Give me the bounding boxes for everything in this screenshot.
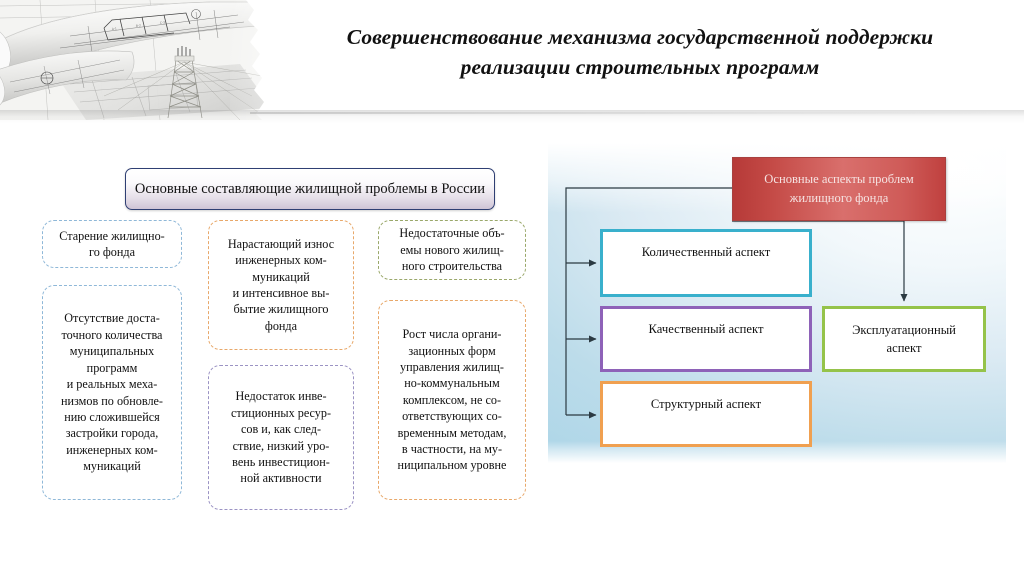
component-line: застройки города,: [61, 425, 163, 441]
component-line: нию сложившейся: [61, 409, 163, 425]
component-line: зационных форм: [398, 343, 507, 359]
component-line: ниципальном уровне: [398, 457, 507, 473]
aspect-box-operational: Эксплуатационный аспект: [822, 306, 986, 372]
component-line: низмов по обновле-: [61, 393, 163, 409]
blueprint-rolls-photo: A-1 B-2 C-3: [0, 0, 300, 120]
left-diagram-title: Основные составляющие жилищной проблемы …: [125, 168, 495, 210]
component-box-aging: Старение жилищно- го фонда: [42, 220, 182, 268]
component-line: ного строительства: [399, 258, 504, 274]
component-box-lack-of-investment: Недостаток инве- стиционных ресур- сов и…: [208, 365, 354, 510]
housing-fund-aspects-diagram: Основные аспекты проблем жилищного фонда…: [548, 143, 1006, 463]
page-title: Совершенствование механизма государствен…: [270, 22, 1010, 82]
component-line: инженерных ком-: [228, 252, 334, 268]
component-line: комплексом, не со-: [398, 392, 507, 408]
component-line: сов и, как след-: [231, 421, 331, 437]
component-line: и интенсивное вы-: [228, 285, 334, 301]
aspect-label: Количественный аспект: [642, 243, 771, 261]
component-line: Нарастающий износ: [228, 236, 334, 252]
component-line: управления жилищ-: [398, 359, 507, 375]
svg-text:C-3: C-3: [160, 20, 166, 25]
component-line: Рост числа органи-: [398, 326, 507, 342]
aspect-label-line-1: Эксплуатационный: [852, 321, 956, 339]
component-line: стиционных ресур-: [231, 405, 331, 421]
component-line: но-коммунальным: [398, 375, 507, 391]
right-diagram-header-line-2: жилищного фонда: [790, 189, 889, 208]
component-line: ствие, низкий уро-: [231, 438, 331, 454]
component-line: го фонда: [59, 244, 164, 260]
component-line: ответствующих со-: [398, 408, 507, 424]
right-diagram-header-line-1: Основные аспекты проблем: [764, 170, 913, 189]
right-diagram-header: Основные аспекты проблем жилищного фонда: [732, 157, 946, 221]
component-line: программ: [61, 360, 163, 376]
aspect-label: Качественный аспект: [649, 320, 764, 338]
svg-text:A-1: A-1: [112, 26, 117, 31]
component-line: Недостаток инве-: [231, 388, 331, 404]
component-box-no-municipal-programs: Отсутствие доста- точного количества мун…: [42, 285, 182, 500]
component-line: Недостаточные объ-: [399, 225, 504, 241]
component-line: муникаций: [61, 458, 163, 474]
header-band-rule: [250, 112, 1024, 114]
aspect-box-quantitative: Количественный аспект: [600, 229, 812, 297]
component-line: емы нового жилищ-: [399, 242, 504, 258]
component-box-growth-of-org-forms: Рост числа органи- зационных форм управл…: [378, 300, 526, 500]
aspect-box-structural: Структурный аспект: [600, 381, 812, 447]
aspect-box-qualitative: Качественный аспект: [600, 306, 812, 372]
left-diagram-title-text: Основные составляющие жилищной проблемы …: [135, 181, 485, 198]
component-line: вень инвестицион-: [231, 454, 331, 470]
aspect-label: Структурный аспект: [651, 395, 761, 413]
component-line: муниципальных: [61, 343, 163, 359]
component-line: точного количества: [61, 327, 163, 343]
component-box-insufficient-new-housing: Недостаточные объ- емы нового жилищ- ног…: [378, 220, 526, 280]
component-line: и реальных меха-: [61, 376, 163, 392]
component-line: фонда: [228, 318, 334, 334]
housing-problem-components-diagram: Основные составляющие жилищной проблемы …: [30, 150, 530, 550]
component-line: ной активности: [231, 470, 331, 486]
component-line: временным методам,: [398, 425, 507, 441]
component-line: бытие жилищного: [228, 301, 334, 317]
page-title-line-2: реализации строительных программ: [270, 52, 1010, 82]
component-line: Отсутствие доста-: [61, 310, 163, 326]
svg-text:B-2: B-2: [136, 23, 142, 28]
component-line: муникаций: [228, 269, 334, 285]
page-title-line-1: Совершенствование механизма государствен…: [270, 22, 1010, 52]
component-line: Старение жилищно-: [59, 228, 164, 244]
component-line: инженерных ком-: [61, 442, 163, 458]
component-line: в частности, на му-: [398, 441, 507, 457]
component-box-engineering-wear: Нарастающий износ инженерных ком- муника…: [208, 220, 354, 350]
slide-header-band: A-1 B-2 C-3: [0, 0, 1024, 120]
aspect-label-line-2: аспект: [887, 339, 922, 357]
